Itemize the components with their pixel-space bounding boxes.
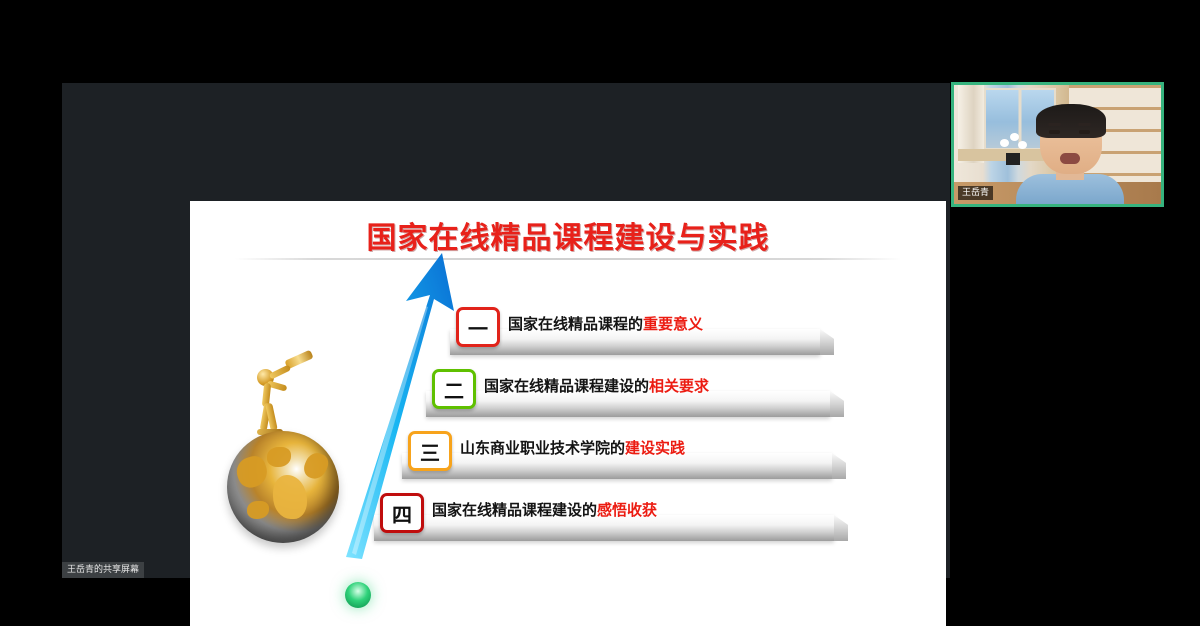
agenda-steps: 一 国家在线精品课程的重要意义 二 国家在线精品课程建设的相关要求 三 xyxy=(366,307,926,567)
globe-continent xyxy=(273,475,307,519)
step-number-badge: 一 xyxy=(456,307,500,347)
step-text-plain: 国家在线精品课程的 xyxy=(508,315,643,333)
figure-arm-upper xyxy=(269,364,291,379)
globe-icon xyxy=(227,431,339,543)
globe-continent xyxy=(267,447,291,467)
telescope-figure-icon xyxy=(253,347,315,439)
plant-bloom xyxy=(1000,139,1009,147)
step-number-badge: 三 xyxy=(408,431,452,471)
globe-telescope-icon xyxy=(215,341,350,551)
share-status-label: 王岳青的共享屏幕 xyxy=(62,562,144,578)
globe-continent xyxy=(247,501,269,519)
list-item[interactable]: 四 国家在线精品课程建设的感悟收获 xyxy=(374,493,834,551)
person-brow xyxy=(1048,123,1061,126)
step-text: 国家在线精品课程建设的相关要求 xyxy=(484,372,709,400)
participant-person xyxy=(1016,100,1124,204)
step-number-badge: 二 xyxy=(432,369,476,409)
globe-continent xyxy=(233,453,271,491)
step-text-plain: 国家在线精品课程建设的 xyxy=(432,501,597,519)
list-item[interactable]: 二 国家在线精品课程建设的相关要求 xyxy=(426,369,830,427)
step-number-badge: 四 xyxy=(380,493,424,533)
list-item[interactable]: 一 国家在线精品课程的重要意义 xyxy=(450,307,820,365)
participant-name-label: 王岳青 xyxy=(958,186,993,200)
presentation-slide: 国家在线精品课程建设与实践 xyxy=(190,201,946,626)
participant-video-tile[interactable]: 王岳青 xyxy=(951,82,1164,207)
step-text-highlight: 感悟收获 xyxy=(597,501,657,519)
person-brow xyxy=(1078,123,1091,126)
title-divider xyxy=(235,258,901,260)
person-eye xyxy=(1049,130,1060,134)
step-text-highlight: 相关要求 xyxy=(649,377,709,395)
person-mouth xyxy=(1060,153,1080,164)
green-status-dot-icon[interactable] xyxy=(345,582,371,608)
list-item[interactable]: 三 山东商业职业技术学院的建设实践 xyxy=(402,431,832,489)
meeting-screen: 国家在线精品课程建设与实践 xyxy=(0,0,1200,600)
screen-share-pane: 国家在线精品课程建设与实践 xyxy=(62,83,950,578)
step-text: 国家在线精品课程的重要意义 xyxy=(508,310,703,338)
step-text-highlight: 重要意义 xyxy=(643,315,703,333)
step-text: 山东商业职业技术学院的建设实践 xyxy=(460,434,685,462)
person-eye xyxy=(1079,130,1090,134)
slide-title: 国家在线精品课程建设与实践 xyxy=(190,213,946,257)
step-text-plain: 国家在线精品课程建设的 xyxy=(484,377,649,395)
globe-continent xyxy=(301,450,331,482)
step-text-plain: 山东商业职业技术学院的 xyxy=(460,439,625,457)
step-text-highlight: 建设实践 xyxy=(625,439,685,457)
step-text: 国家在线精品课程建设的感悟收获 xyxy=(432,496,657,524)
person-hair xyxy=(1036,104,1106,138)
